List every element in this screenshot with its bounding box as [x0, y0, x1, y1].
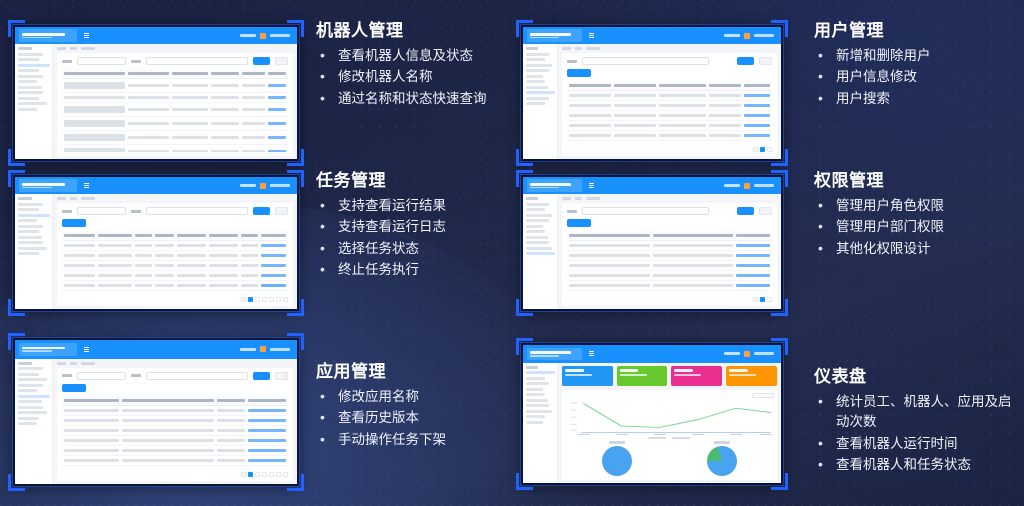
corner-bracket-bottom-right-icon — [771, 299, 788, 316]
table-body — [62, 406, 288, 468]
list-item: 查看机器人运行时间 — [814, 434, 1021, 455]
add-task-button[interactable] — [62, 219, 86, 227]
list-item: 查看机器人信息及状态 — [316, 46, 508, 67]
search-button[interactable] — [737, 57, 754, 65]
search-input[interactable] — [77, 372, 126, 380]
content-area — [558, 194, 781, 309]
mini-body — [15, 194, 297, 309]
table-body — [567, 91, 772, 143]
table-row[interactable] — [62, 93, 288, 103]
page-title: 权限管理 — [814, 172, 1020, 191]
permission-list-screenshot[interactable] — [521, 175, 783, 311]
list-item: 管理用户部门权限 — [814, 217, 1020, 238]
table-header — [62, 396, 288, 406]
screenshot-frame — [516, 20, 788, 166]
add-user-button[interactable] — [567, 69, 591, 77]
app-logo — [527, 29, 582, 41]
corner-bracket-top-right-icon — [771, 170, 788, 187]
topbar-right — [240, 183, 293, 189]
feature-task-management: 任务管理 支持查看运行结果 支持查看运行日志 选择任务状态 终止任务执行 — [8, 170, 508, 316]
reset-button[interactable] — [759, 57, 772, 65]
search-bar[interactable] — [62, 57, 288, 65]
page-title: 机器人管理 — [316, 22, 508, 41]
corner-bracket-top-left-icon — [8, 170, 25, 187]
add-app-button[interactable] — [62, 384, 86, 392]
mini-topbar — [523, 345, 781, 363]
page-title: 应用管理 — [316, 363, 508, 382]
corner-bracket-bottom-right-icon — [287, 299, 304, 316]
breadcrumb — [57, 47, 293, 50]
topbar-right — [724, 183, 777, 189]
search-bar[interactable] — [62, 207, 288, 215]
sidebar[interactable] — [15, 44, 53, 159]
list-item: 手动操作任务下架 — [316, 430, 508, 451]
add-row — [567, 219, 772, 227]
mini-topbar — [15, 340, 297, 359]
corner-bracket-bottom-right-icon — [771, 473, 788, 490]
topbar-label — [724, 34, 740, 37]
add-row — [62, 219, 288, 227]
topbar-label — [724, 184, 740, 187]
table-header — [62, 69, 288, 79]
corner-bracket-bottom-right-icon — [771, 149, 788, 166]
mini-app — [15, 177, 297, 309]
breadcrumb — [57, 362, 293, 365]
app-logo — [19, 343, 77, 356]
table-panel — [57, 203, 293, 306]
pagination[interactable] — [567, 293, 772, 302]
list-item: 修改应用名称 — [316, 387, 508, 408]
mini-topbar — [15, 27, 297, 44]
corner-bracket-top-left-icon — [8, 20, 25, 37]
page-title: 任务管理 — [316, 172, 508, 191]
mini-app — [15, 340, 297, 484]
app-list-screenshot[interactable] — [13, 338, 299, 486]
table-row[interactable] — [567, 91, 772, 101]
table-row[interactable] — [62, 251, 288, 261]
corner-bracket-top-left-icon — [8, 333, 25, 350]
list-item: 用户信息修改 — [814, 67, 1014, 88]
search-button[interactable] — [253, 207, 270, 215]
menu-toggle-icon[interactable] — [84, 183, 89, 188]
dashboard-screenshot-wrap — [516, 338, 788, 490]
table-header — [567, 81, 772, 91]
table-row[interactable] — [62, 117, 288, 131]
bullet-list: 统计员工、机器人、应用及启动次数 查看机器人运行时间 查看机器人和任务状态 — [814, 392, 1021, 476]
mini-body — [15, 44, 297, 159]
mini-body — [523, 44, 781, 159]
table-panel — [57, 53, 293, 156]
table-row[interactable] — [62, 406, 288, 416]
task-screenshot-wrap — [8, 170, 304, 316]
mini-app — [523, 27, 781, 159]
menu-toggle-icon[interactable] — [589, 183, 594, 188]
topbar-right — [724, 351, 777, 357]
user-screenshot-wrap — [516, 20, 788, 166]
corner-bracket-top-right-icon — [287, 333, 304, 350]
pagination[interactable] — [62, 468, 288, 477]
corner-bracket-top-left-icon — [516, 170, 533, 187]
mini-app — [523, 177, 781, 309]
table-row[interactable] — [567, 121, 772, 131]
breadcrumb — [57, 197, 293, 200]
table-row[interactable] — [567, 131, 772, 141]
app-management-text: 应用管理 修改应用名称 查看历史版本 手动操作任务下架 — [316, 333, 508, 451]
status-select[interactable] — [146, 207, 248, 215]
menu-toggle-icon[interactable] — [84, 33, 89, 38]
y-axis-ticks — [570, 402, 576, 430]
content-area — [53, 194, 297, 309]
table-body — [62, 241, 288, 293]
corner-bracket-top-left-icon — [516, 20, 533, 37]
search-bar[interactable] — [62, 372, 288, 380]
search-button[interactable] — [253, 372, 270, 380]
sidebar[interactable] — [15, 194, 53, 309]
content-area — [53, 44, 297, 159]
employee-card[interactable] — [562, 366, 613, 386]
user-management-text: 用户管理 新增和删除用户 用户信息修改 用户搜索 — [814, 20, 1014, 110]
table-row[interactable] — [567, 271, 772, 281]
topbar-label — [240, 348, 256, 351]
table-header — [62, 231, 288, 241]
x-axis-tick-labels — [578, 434, 772, 435]
topbar-label — [724, 352, 740, 355]
mini-body — [15, 359, 297, 484]
corner-bracket-top-right-icon — [771, 20, 788, 37]
table-row[interactable] — [62, 103, 288, 117]
search-bar[interactable] — [567, 57, 772, 65]
search-bar[interactable] — [567, 207, 772, 215]
page-title: 用户管理 — [814, 22, 1014, 41]
status-select[interactable] — [146, 57, 248, 65]
app-logo — [527, 179, 582, 191]
list-item: 新增和删除用户 — [814, 46, 1014, 67]
permission-management-text: 权限管理 管理用户角色权限 管理用户部门权限 其他化权限设计 — [814, 170, 1020, 260]
table-row[interactable] — [62, 145, 288, 152]
mini-topbar — [15, 177, 297, 194]
list-item: 修改机器人名称 — [316, 67, 508, 88]
search-input[interactable] — [582, 207, 709, 215]
corner-bracket-bottom-left-icon — [516, 149, 533, 166]
pagination[interactable] — [567, 143, 772, 152]
table-row[interactable] — [62, 456, 288, 466]
feature-user-management: 用户管理 新增和删除用户 用户信息修改 用户搜索 — [516, 20, 1021, 166]
range-toggle[interactable] — [752, 393, 774, 398]
table-row[interactable] — [62, 426, 288, 436]
corner-bracket-bottom-left-icon — [8, 474, 25, 491]
table-panel — [562, 53, 777, 156]
sidebar[interactable] — [15, 359, 53, 484]
bullet-list: 管理用户角色权限 管理用户部门权限 其他化权限设计 — [814, 196, 1020, 260]
task-status-pie-title — [714, 441, 730, 444]
content-area — [558, 44, 781, 159]
app-card[interactable] — [671, 366, 722, 386]
menu-toggle-icon[interactable] — [589, 351, 594, 356]
topbar-right — [240, 33, 293, 39]
corner-bracket-bottom-left-icon — [516, 299, 533, 316]
screenshot-frame — [8, 170, 304, 316]
mini-topbar — [523, 177, 781, 194]
topbar-label — [240, 184, 256, 187]
reset-button[interactable] — [275, 57, 288, 65]
pie-charts — [565, 441, 774, 477]
pagination[interactable] — [62, 293, 288, 302]
mini-topbar — [523, 27, 781, 44]
corner-bracket-bottom-left-icon — [8, 149, 25, 166]
table-row[interactable] — [62, 416, 288, 426]
breadcrumb — [562, 197, 777, 200]
corner-bracket-bottom-right-icon — [287, 149, 304, 166]
list-item: 选择任务状态 — [316, 239, 508, 260]
corner-bracket-top-right-icon — [287, 20, 304, 37]
reset-button[interactable] — [275, 372, 288, 380]
bullet-list: 支持查看运行结果 支持查看运行日志 选择任务状态 终止任务执行 — [316, 196, 508, 281]
screenshot-frame — [516, 338, 788, 490]
reset-button[interactable] — [759, 207, 772, 215]
list-item: 通过名称和状态快速查询 — [316, 89, 508, 110]
line-chart-svg — [565, 399, 774, 436]
content-area — [53, 359, 297, 484]
table-row[interactable] — [62, 436, 288, 446]
table-panel — [562, 203, 777, 306]
topbar-label — [240, 34, 256, 37]
robot-runtime-line-chart — [565, 399, 774, 436]
robot-status-pie-cell — [565, 441, 670, 477]
list-item: 其他化权限设计 — [814, 239, 1020, 260]
table-row[interactable] — [567, 261, 772, 271]
list-item: 用户搜索 — [814, 89, 1014, 110]
list-item: 支持查看运行日志 — [316, 217, 508, 238]
corner-bracket-top-right-icon — [771, 338, 788, 355]
robot-management-text: 机器人管理 查看机器人信息及状态 修改机器人名称 通过名称和状态快速查询 — [316, 20, 508, 110]
menu-toggle-icon[interactable] — [589, 33, 594, 38]
feature-permission-management: 权限管理 管理用户角色权限 管理用户部门权限 其他化权限设计 — [516, 170, 1021, 316]
table-header — [567, 231, 772, 241]
reset-button[interactable] — [275, 207, 288, 215]
slide-canvas: 机器人管理 查看机器人信息及状态 修改机器人名称 通过名称和状态快速查询 — [0, 0, 1024, 506]
sidebar[interactable] — [523, 363, 558, 483]
user-list-screenshot[interactable] — [521, 25, 783, 161]
dashboard-screenshot[interactable] — [521, 343, 783, 485]
feature-robot-management: 机器人管理 查看机器人信息及状态 修改机器人名称 通过名称和状态快速查询 — [8, 20, 508, 166]
robot-screenshot-wrap — [8, 20, 304, 166]
corner-bracket-bottom-right-icon — [287, 474, 304, 491]
avatar[interactable] — [260, 346, 266, 352]
screenshot-frame — [8, 333, 304, 491]
corner-bracket-top-right-icon — [287, 170, 304, 187]
screenshot-frame — [516, 170, 788, 316]
table-row[interactable] — [567, 281, 772, 291]
task-list-screenshot[interactable] — [13, 175, 299, 311]
table-body — [62, 79, 288, 152]
mini-app — [523, 345, 781, 483]
breadcrumb — [562, 47, 777, 50]
list-item: 管理用户角色权限 — [814, 196, 1020, 217]
list-item: 统计员工、机器人、应用及启动次数 — [814, 392, 1021, 433]
dashboard-content — [558, 363, 781, 483]
table-row[interactable] — [62, 271, 288, 281]
robot-status-pie-title — [609, 441, 625, 444]
dashboard-text: 仪表盘 统计员工、机器人、应用及启动次数 查看机器人运行时间 查看机器人和任务状… — [814, 338, 1021, 477]
avatar[interactable] — [744, 183, 750, 189]
runtime-series-line — [583, 403, 770, 427]
table-row[interactable] — [62, 281, 288, 291]
list-item: 终止任务执行 — [316, 260, 508, 281]
status-select[interactable] — [146, 372, 248, 380]
search-button[interactable] — [253, 57, 270, 65]
table-row[interactable] — [62, 79, 288, 93]
corner-bracket-bottom-left-icon — [8, 299, 25, 316]
avatar[interactable] — [744, 351, 750, 357]
corner-bracket-bottom-left-icon — [516, 473, 533, 490]
task-status-pie-cell — [669, 441, 774, 477]
list-item: 查看历史版本 — [316, 408, 508, 429]
screenshot-frame — [8, 20, 304, 166]
table-row[interactable] — [62, 241, 288, 251]
task-management-text: 任务管理 支持查看运行结果 支持查看运行日志 选择任务状态 终止任务执行 — [316, 170, 508, 282]
feature-dashboard: 仪表盘 统计员工、机器人、应用及启动次数 查看机器人运行时间 查看机器人和任务状… — [516, 338, 1021, 490]
app-logo — [19, 179, 77, 191]
bullet-list: 新增和删除用户 用户信息修改 用户搜索 — [814, 46, 1014, 110]
table-row[interactable] — [62, 131, 288, 145]
app-logo — [19, 29, 77, 41]
app-screenshot-wrap — [8, 333, 304, 491]
add-role-button[interactable] — [567, 219, 591, 227]
table-body — [567, 241, 772, 293]
corner-bracket-top-left-icon — [516, 338, 533, 355]
line-chart-legend — [565, 437, 774, 439]
add-row — [62, 384, 288, 392]
bullet-list: 查看机器人信息及状态 修改机器人名称 通过名称和状态快速查询 — [316, 46, 508, 110]
avatar[interactable] — [260, 33, 266, 39]
table-row[interactable] — [62, 446, 288, 456]
list-item: 支持查看运行结果 — [316, 196, 508, 217]
sidebar[interactable] — [523, 44, 558, 159]
mini-app — [15, 27, 297, 159]
menu-toggle-icon[interactable] — [84, 347, 89, 352]
robot-card[interactable] — [617, 366, 668, 386]
search-button[interactable] — [737, 207, 754, 215]
launch-count-card[interactable] — [726, 366, 777, 386]
task-status-pie-chart[interactable] — [707, 446, 737, 476]
robot-status-pie-chart[interactable] — [602, 446, 632, 476]
mini-body — [523, 194, 781, 309]
topbar-right — [724, 33, 777, 39]
table-row[interactable] — [567, 101, 772, 111]
mini-body — [523, 363, 781, 483]
search-input[interactable] — [77, 207, 126, 215]
topbar-right — [240, 346, 293, 352]
add-row — [567, 69, 772, 77]
table-row[interactable] — [62, 261, 288, 271]
charts-panel — [562, 390, 777, 480]
stat-cards — [562, 366, 777, 386]
table-row[interactable] — [567, 251, 772, 261]
list-item: 查看机器人和任务状态 — [814, 455, 1021, 476]
avatar[interactable] — [260, 183, 266, 189]
app-logo — [527, 348, 582, 361]
bullet-list: 修改应用名称 查看历史版本 手动操作任务下架 — [316, 387, 508, 451]
table-row[interactable] — [567, 111, 772, 121]
search-input[interactable] — [77, 57, 126, 65]
sidebar[interactable] — [523, 194, 558, 309]
avatar[interactable] — [744, 33, 750, 39]
permission-screenshot-wrap — [516, 170, 788, 316]
feature-app-management: 应用管理 修改应用名称 查看历史版本 手动操作任务下架 — [8, 333, 508, 491]
table-row[interactable] — [567, 241, 772, 251]
page-title: 仪表盘 — [814, 368, 1021, 387]
table-panel — [57, 368, 293, 481]
robot-list-screenshot[interactable] — [13, 25, 299, 161]
search-input[interactable] — [582, 57, 709, 65]
